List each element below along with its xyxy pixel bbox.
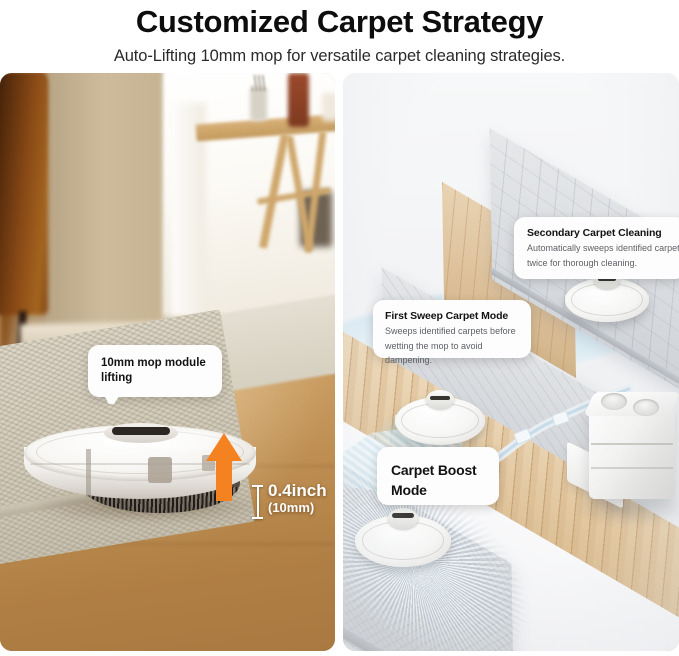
- dock-seam: [591, 443, 673, 445]
- measurement-text: 0.4inch (10mm): [268, 481, 327, 516]
- lidar-slot: [112, 427, 170, 435]
- up-arrow-icon: [205, 431, 243, 503]
- measurement-bar-icon: [252, 485, 263, 519]
- callout-body: Sweeps identified carpets before wetting…: [385, 324, 531, 368]
- robot-vacuum-upper: [565, 278, 649, 322]
- lidar-slot: [392, 513, 413, 518]
- callout-title: 10mm mop module lifting: [101, 356, 222, 386]
- height-measurement: 0.4inch (10mm): [252, 481, 335, 527]
- robot-vacuum-lower: [355, 515, 451, 567]
- dock-seam: [591, 467, 673, 469]
- measurement-inches: 0.4inch: [268, 481, 327, 500]
- dock-top: [584, 392, 679, 416]
- product-feature-page: Customized Carpet Strategy Auto-Lifting …: [0, 0, 679, 656]
- left-panel-photo: 0.4inch (10mm) 10mm mop module lifting: [0, 73, 335, 651]
- table-item: [322, 93, 335, 121]
- panels-container: 0.4inch (10mm) 10mm mop module lifting: [0, 73, 679, 651]
- callout-title: Carpet Boost Mode: [391, 460, 499, 500]
- table-vase: [288, 73, 309, 127]
- dock-station: [575, 403, 679, 533]
- lidar-slot: [430, 396, 450, 400]
- callout-carpet-boost-mode[interactable]: Carpet Boost Mode: [377, 447, 499, 505]
- dock-body: [589, 403, 675, 499]
- wall-column: [46, 73, 162, 331]
- table-cup: [250, 87, 267, 121]
- callout-secondary-carpet-cleaning[interactable]: Secondary Carpet Cleaning Automatically …: [514, 217, 679, 279]
- header: Customized Carpet Strategy Auto-Lifting …: [0, 0, 679, 67]
- table-pens: [252, 75, 266, 91]
- callout-mop-lifting[interactable]: 10mm mop module lifting: [88, 345, 222, 397]
- lidar-turret: [388, 508, 419, 529]
- callout-body: Automatically sweeps identified carpets …: [527, 241, 679, 270]
- robot-side-vent: [148, 457, 172, 483]
- wooden-cabinet: [0, 73, 48, 315]
- page-subtitle: Auto-Lifting 10mm mop for versatile carp…: [0, 45, 679, 67]
- callout-title: Secondary Carpet Cleaning: [527, 226, 679, 240]
- page-title: Customized Carpet Strategy: [0, 4, 679, 40]
- robot-side-seam: [86, 449, 91, 497]
- callout-title: First Sweep Carpet Mode: [385, 309, 531, 323]
- measurement-mm: (10mm): [268, 500, 327, 516]
- dock-water-tank: [601, 393, 627, 410]
- dock-water-tank: [633, 399, 659, 416]
- callout-first-sweep-carpet-mode[interactable]: First Sweep Carpet Mode Sweeps identifie…: [373, 300, 531, 358]
